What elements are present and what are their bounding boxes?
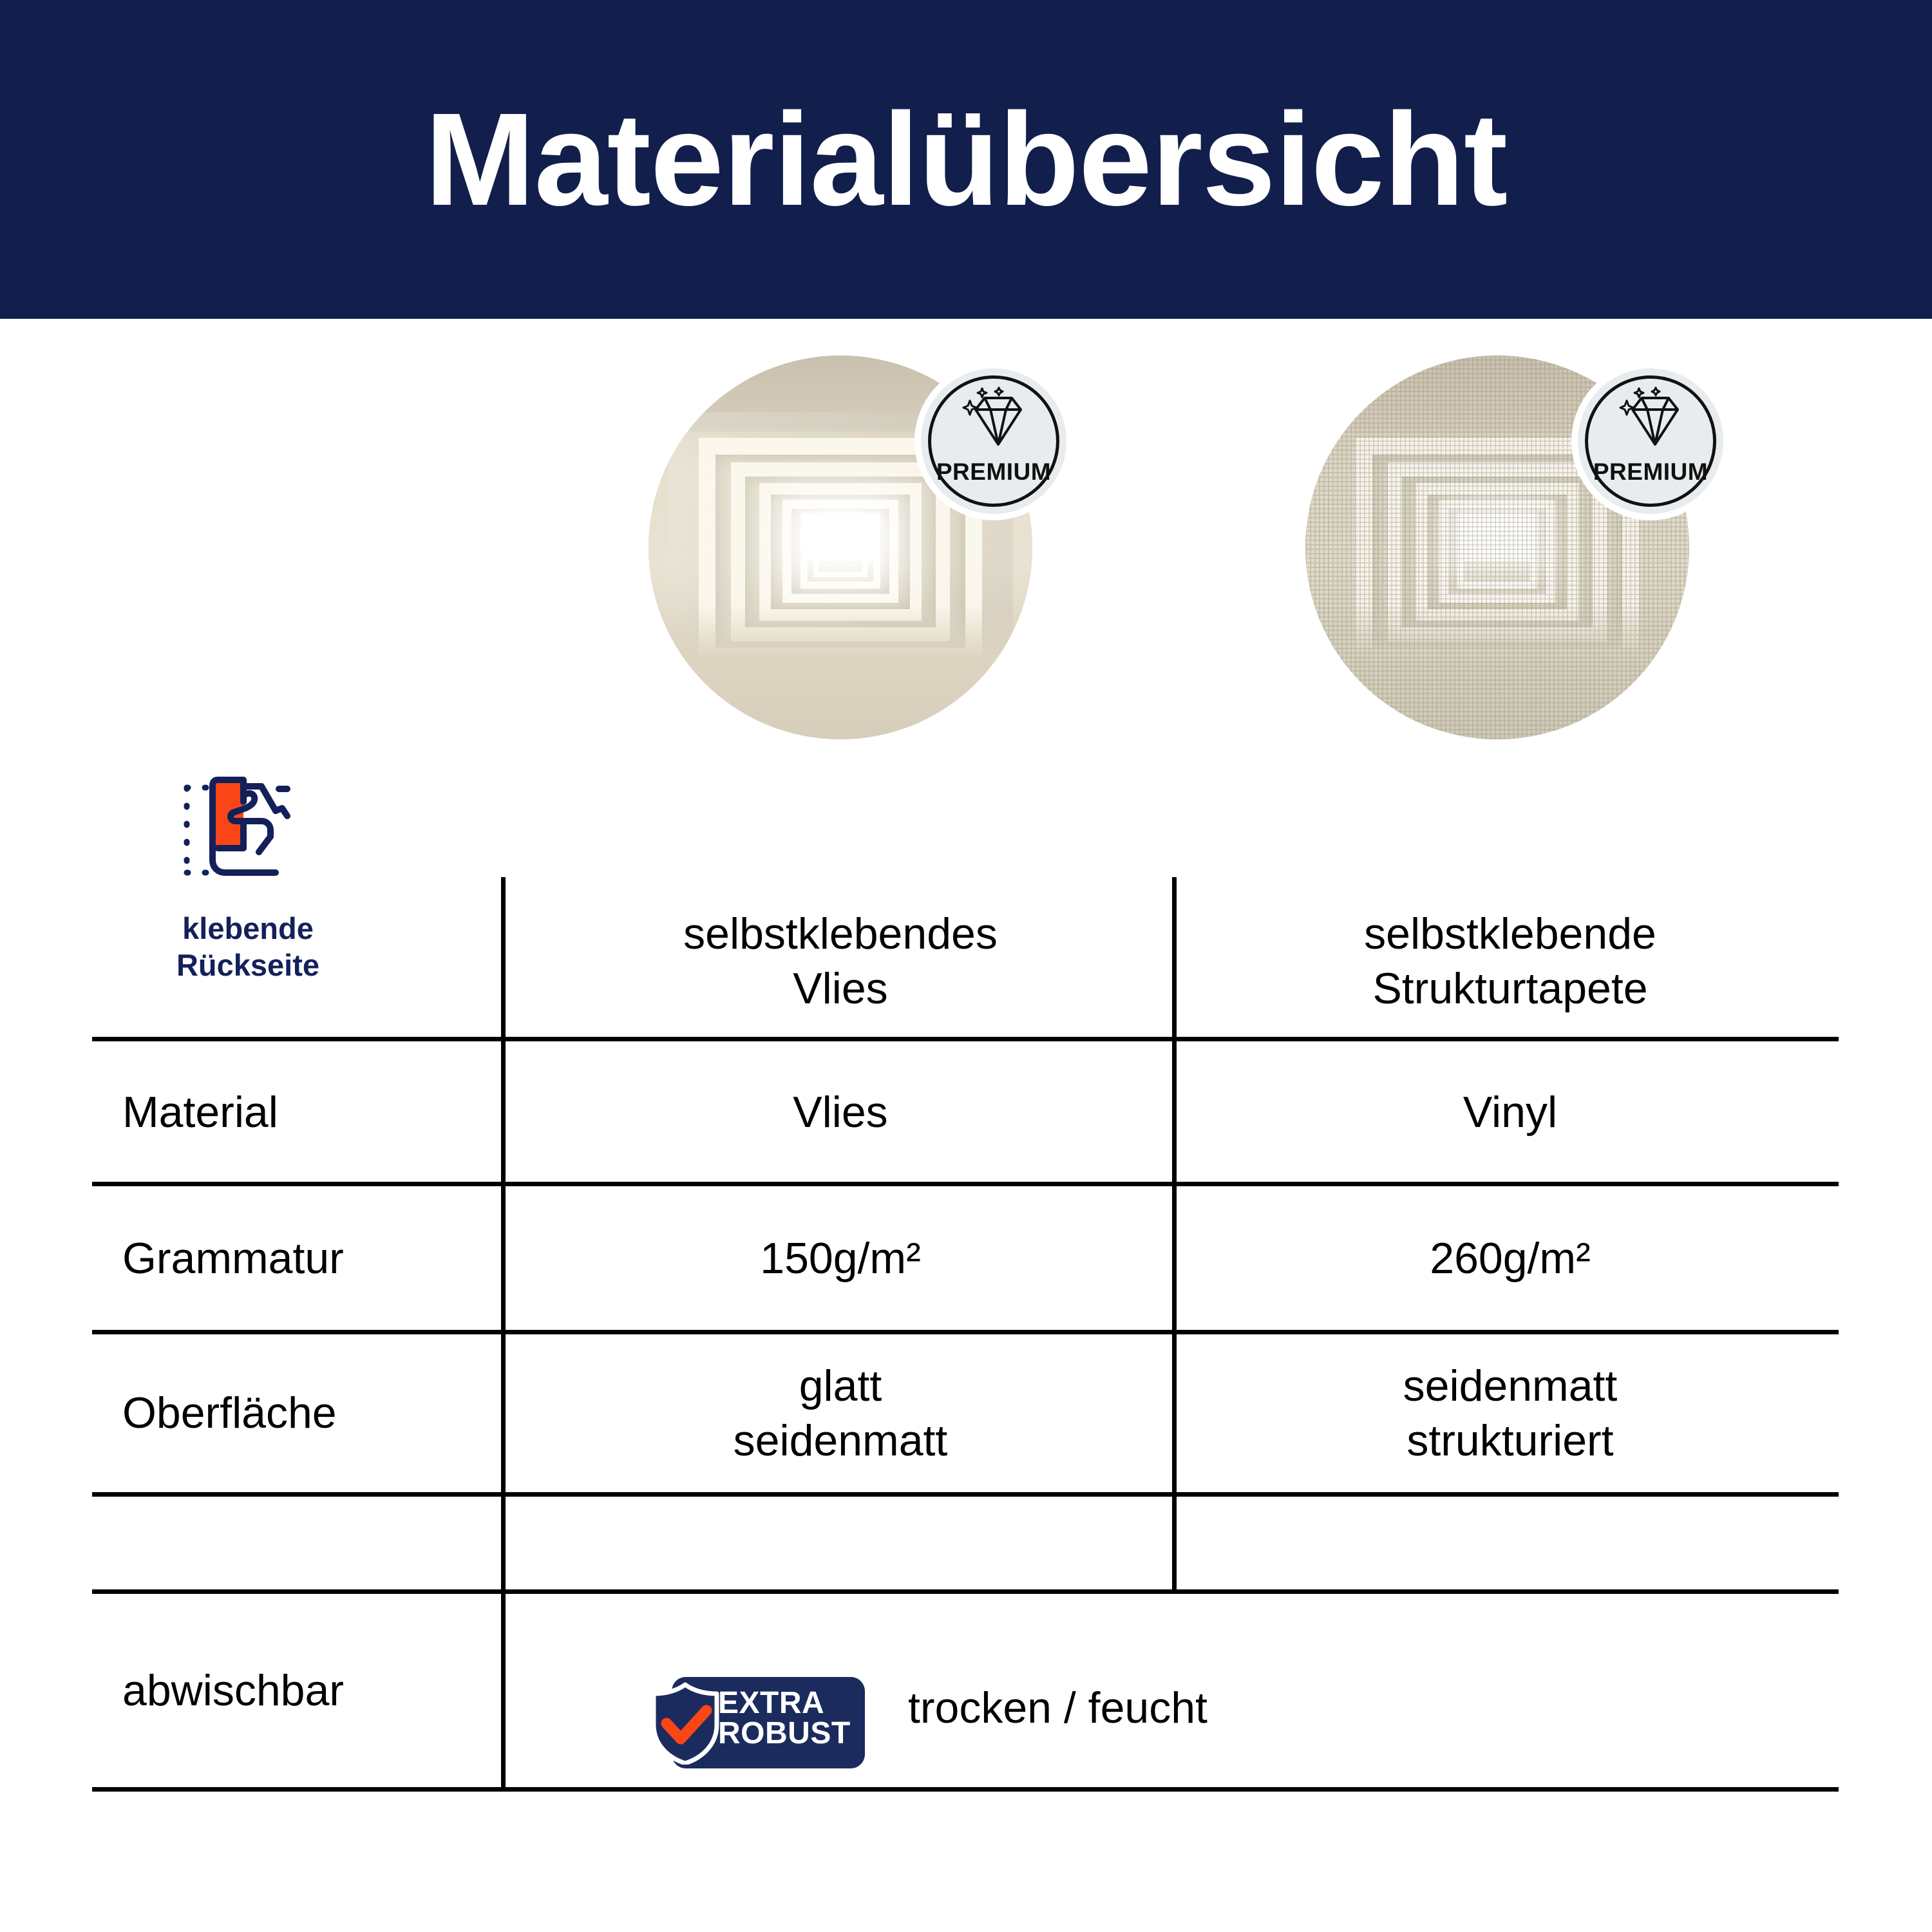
row-label-grammatur: Grammatur	[122, 1187, 483, 1330]
sticky-backing-label: klebende Rückseite	[93, 910, 402, 984]
table-divider	[92, 1787, 1839, 1792]
oberflaeche-struktur-line2: strukturiert	[1403, 1414, 1618, 1468]
row-material-vlies: Vlies	[515, 1042, 1166, 1182]
extra-robust-text: EXTRA ROBUST	[718, 1689, 851, 1748]
table-column-divider	[501, 877, 506, 1792]
tunnel-floor	[649, 604, 1032, 739]
robust-line2: ROBUST	[718, 1719, 851, 1749]
robust-line1: EXTRA	[718, 1689, 851, 1719]
page-header: Materialübersicht	[0, 0, 1932, 319]
table-divider	[92, 1492, 1839, 1497]
oberflaeche-vlies-line1: glatt	[734, 1359, 948, 1414]
table-divider	[92, 1182, 1839, 1186]
premium-badge-strukturtapete: PREMIUM	[1578, 368, 1723, 514]
page-title: Materialübersicht	[425, 93, 1507, 225]
table-header-cell-strukturtapete: selbstklebende Strukturtapete	[1185, 889, 1835, 1034]
table-divider	[92, 1589, 1839, 1594]
table-divider	[92, 1330, 1839, 1334]
row-label-material: Material	[122, 1042, 483, 1182]
extra-robust-badge: EXTRA ROBUST	[647, 1674, 866, 1771]
premium-badge-label: PREMIUM	[921, 459, 1066, 486]
oberflaeche-vlies-line2: seidenmatt	[734, 1414, 948, 1468]
peel-sticker-hand-icon	[167, 770, 328, 892]
tunnel-light	[802, 515, 878, 561]
premium-badge-label: PREMIUM	[1578, 459, 1723, 486]
shield-check-icon	[647, 1682, 723, 1765]
sticky-label-line2: Rückseite	[93, 947, 402, 983]
table-divider	[92, 1037, 1839, 1041]
premium-badge-vlies: PREMIUM	[921, 368, 1066, 514]
row-material-vinyl: Vinyl	[1185, 1042, 1835, 1182]
table-header-cell-vlies: selbstklebendes Vlies	[515, 889, 1166, 1034]
header-struktur-line1: selbstklebende	[1364, 907, 1656, 961]
header-vlies-line2: Vlies	[683, 961, 998, 1016]
row-oberflaeche-struktur: seidenmatt strukturiert	[1185, 1334, 1835, 1492]
table-column-divider	[1172, 877, 1177, 1592]
sticky-backing-block: klebende Rückseite	[93, 770, 402, 984]
row-label-oberflaeche: Oberfläche	[122, 1334, 483, 1492]
row-oberflaeche-vlies: glatt seidenmatt	[515, 1334, 1166, 1492]
row-label-abwischbar: abwischbar	[122, 1594, 483, 1787]
diamond-icon	[1616, 385, 1685, 455]
row-grammatur-vlies: 150g/m²	[515, 1187, 1166, 1330]
oberflaeche-struktur-line1: seidenmatt	[1403, 1359, 1618, 1414]
header-vlies-line1: selbstklebendes	[683, 907, 998, 961]
sticky-label-line1: klebende	[93, 910, 402, 947]
row-abwischbar-value: trocken / feucht	[908, 1681, 1488, 1736]
row-grammatur-struktur: 260g/m²	[1185, 1187, 1835, 1330]
header-struktur-line2: Strukturtapete	[1364, 961, 1656, 1016]
diamond-icon	[959, 385, 1028, 455]
material-overview-page: Materialübersicht	[0, 0, 1932, 1932]
